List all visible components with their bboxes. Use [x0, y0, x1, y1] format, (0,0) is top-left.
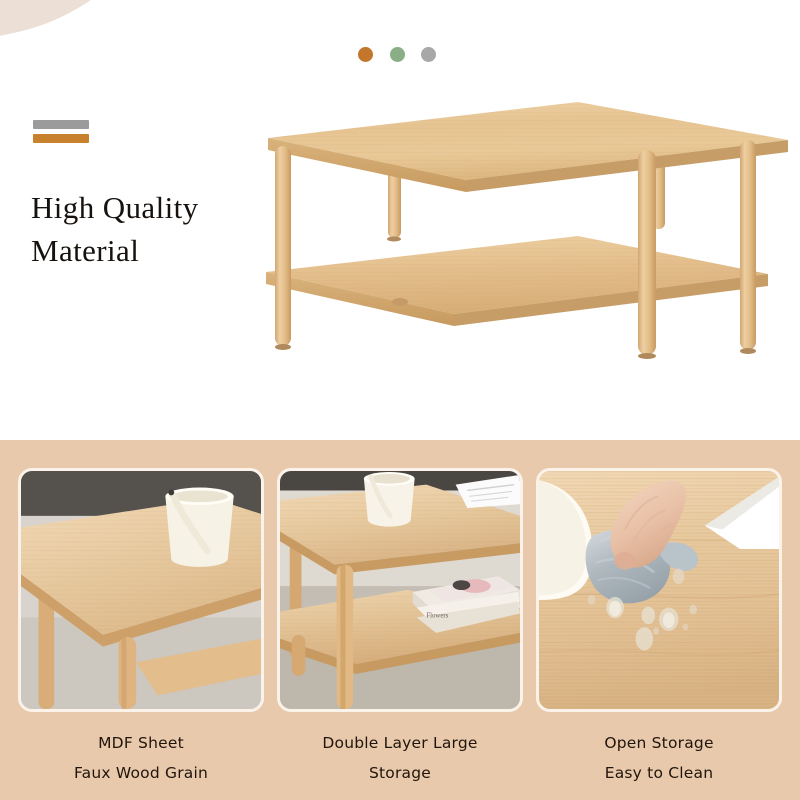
page-title: High Quality Material	[31, 186, 281, 272]
dot-indicator-group	[358, 47, 448, 65]
accent-bar-gray	[33, 120, 89, 129]
panel-double-layer[interactable]: Flowers	[277, 468, 523, 712]
panel-open-storage[interactable]	[536, 468, 782, 712]
feature-panel-row: Flowers	[0, 440, 800, 800]
hero-section: High Quality Material	[0, 0, 800, 440]
panel-mdf-sheet-image	[21, 471, 261, 709]
caption-double-layer: Double Layer Large Storage	[277, 728, 523, 788]
dot-orange-icon	[358, 47, 373, 62]
beige-blob	[0, 0, 340, 90]
features-section: Flowers	[0, 440, 800, 800]
accent-bars	[33, 120, 89, 143]
dot-gray-icon	[421, 47, 436, 62]
caption-mdf-sheet: MDF Sheet Faux Wood Grain	[18, 728, 264, 788]
panel-mdf-sheet[interactable]	[18, 468, 264, 712]
accent-bar-orange	[33, 134, 89, 143]
panel-open-storage-image	[539, 471, 779, 709]
book-title-label: Flowers	[426, 612, 448, 619]
product-feature-page: High Quality Material	[0, 0, 800, 800]
caption-open-storage: Open Storage Easy to Clean	[536, 728, 782, 788]
dot-green-icon	[390, 47, 405, 62]
panel-double-layer-image: Flowers	[280, 471, 520, 709]
hero-product-image	[248, 96, 800, 436]
